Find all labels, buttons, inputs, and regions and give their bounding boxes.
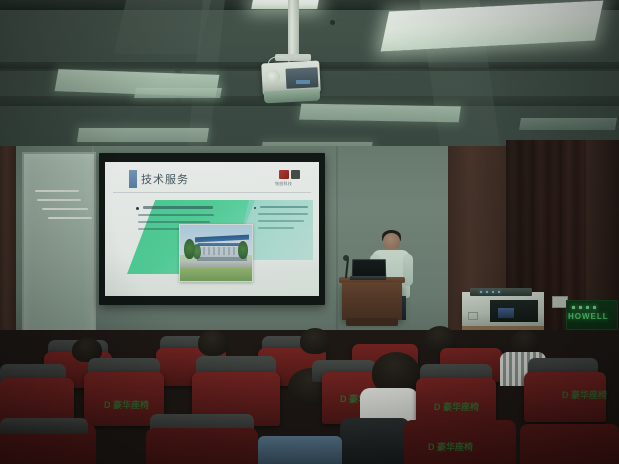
ceiling-light-fixture bbox=[251, 0, 319, 9]
whiteboard-light-reflection bbox=[48, 217, 92, 219]
slide-text-line bbox=[258, 213, 308, 215]
projection-screen: 技术服务 铭创科技 bbox=[99, 153, 325, 305]
ceiling-light-fixture bbox=[519, 118, 617, 130]
slide-text-line bbox=[138, 214, 214, 216]
exit-sign-led bbox=[593, 306, 596, 309]
audience-head bbox=[300, 328, 330, 354]
amplifier-led bbox=[498, 291, 500, 293]
whiteboard-light-reflection bbox=[35, 190, 79, 192]
cabinet-latch bbox=[468, 312, 478, 320]
wall-wood-panel bbox=[0, 146, 16, 344]
lecture-hall-photo: 技术服务 铭创科技 bbox=[0, 0, 619, 464]
slide-bullet-icon bbox=[254, 207, 256, 209]
wall-seam bbox=[336, 146, 338, 342]
amplifier-led bbox=[492, 291, 494, 293]
whiteboard-light-reflection bbox=[42, 208, 88, 210]
ceiling-sensor bbox=[330, 20, 335, 25]
ceiling-light-fixture bbox=[299, 104, 461, 123]
slide-text-line bbox=[258, 227, 294, 229]
audience-torso bbox=[340, 418, 410, 464]
laptop-base bbox=[350, 276, 386, 280]
ceiling-light-fixture bbox=[134, 88, 222, 98]
projector-mount-pole bbox=[288, 0, 299, 56]
podium-base bbox=[346, 318, 398, 326]
seat-headrest bbox=[0, 418, 88, 434]
seat-brand-logo: D 豪华座椅 bbox=[434, 400, 479, 413]
photo-grass bbox=[180, 268, 252, 281]
presentation-slide: 技术服务 铭创科技 bbox=[105, 162, 319, 296]
slide-title: 技术服务 bbox=[141, 171, 189, 187]
slide-text-line bbox=[258, 220, 304, 222]
company-logo-icon bbox=[291, 170, 300, 179]
slide-text-line bbox=[138, 221, 210, 223]
microphone-head bbox=[343, 255, 349, 261]
wooden-podium bbox=[342, 282, 402, 320]
seat-brand-logo: D 豪华座椅 bbox=[428, 440, 473, 453]
whiteboard-light-reflection bbox=[37, 199, 81, 201]
photo-tree bbox=[238, 241, 248, 259]
company-logo-text: 铭创科技 bbox=[275, 181, 292, 187]
whiteboard bbox=[22, 152, 96, 338]
slide-text-line bbox=[143, 206, 213, 209]
projector-connector-panel bbox=[285, 67, 318, 89]
exit-sign-led bbox=[586, 306, 589, 309]
exit-sign-led bbox=[579, 306, 582, 309]
auditorium-seat bbox=[520, 424, 619, 464]
exit-sign-led bbox=[572, 306, 575, 309]
amplifier-led bbox=[486, 291, 488, 293]
company-logo-icon bbox=[279, 170, 289, 179]
photo-road bbox=[180, 261, 252, 268]
cabinet-device bbox=[498, 308, 514, 318]
auditorium-seat bbox=[146, 428, 258, 464]
slide-building-photo bbox=[179, 224, 253, 282]
slide-title-accent bbox=[129, 170, 137, 188]
slide-text-line bbox=[260, 206, 308, 208]
projector-indicator bbox=[296, 80, 310, 84]
audience-head bbox=[198, 330, 228, 356]
slide-divider bbox=[113, 192, 311, 193]
photo-tree bbox=[193, 244, 201, 259]
slide-bullet-icon bbox=[136, 207, 139, 210]
amplifier-led bbox=[480, 291, 482, 293]
seat-brand-logo: D 豪华座椅 bbox=[104, 398, 149, 411]
seat-brand-logo: D 豪华座椅 bbox=[562, 388, 607, 401]
projector-lens bbox=[266, 70, 280, 84]
ceiling-soffit bbox=[114, 0, 211, 54]
exit-sign-text: HOWELL bbox=[568, 312, 609, 321]
ceiling-light-fixture bbox=[77, 128, 209, 142]
audience-torso bbox=[258, 436, 342, 464]
